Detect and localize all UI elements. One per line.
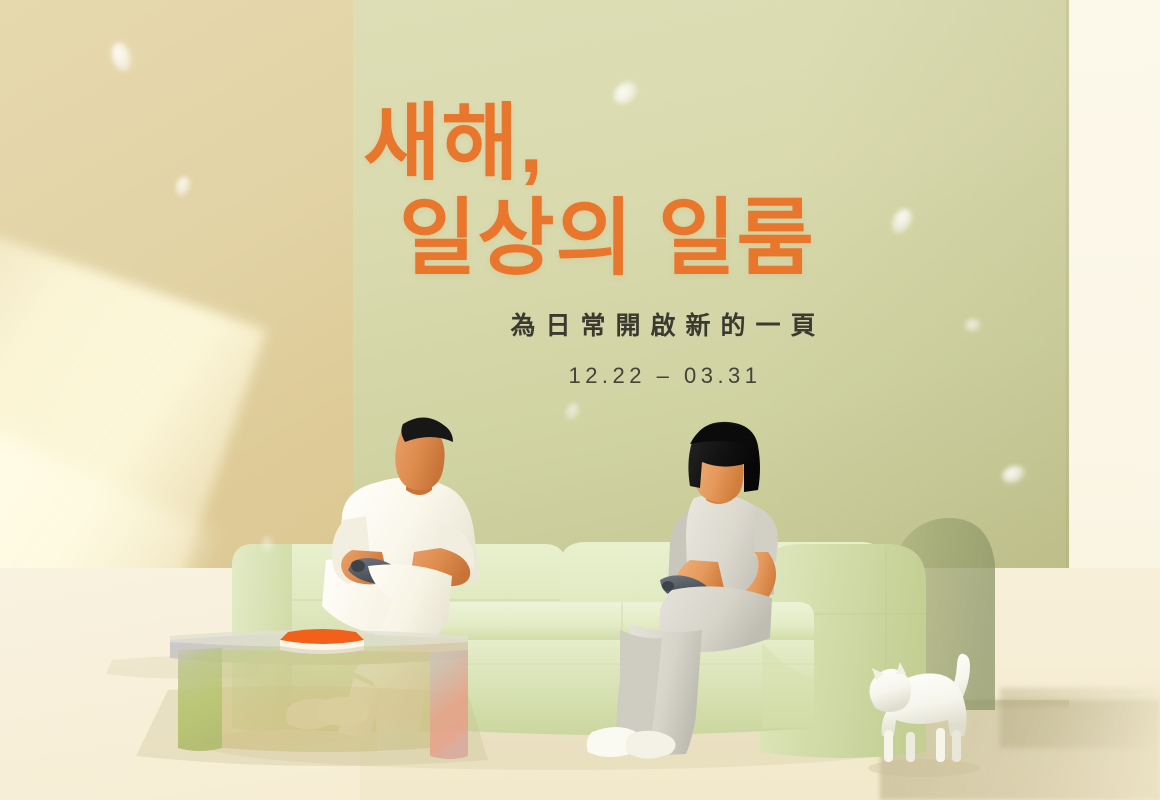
headline-line-2: 일상의 일룸 <box>363 191 963 286</box>
subtitle: 為日常開啟新的一頁 <box>363 306 963 342</box>
headline: 새해, 일상의 일룸 <box>363 96 963 286</box>
headline-line-1: 새해, <box>363 96 544 190</box>
campaign-date-range: 12.22 – 03.31 <box>363 363 963 389</box>
floor-shadow-right-deep <box>1000 688 1160 748</box>
promo-banner: 새해, 일상의 일룸 為日常開啟新的一頁 12.22 – 03.31 Beige… <box>0 0 1160 800</box>
floor-left-lit <box>0 568 360 800</box>
